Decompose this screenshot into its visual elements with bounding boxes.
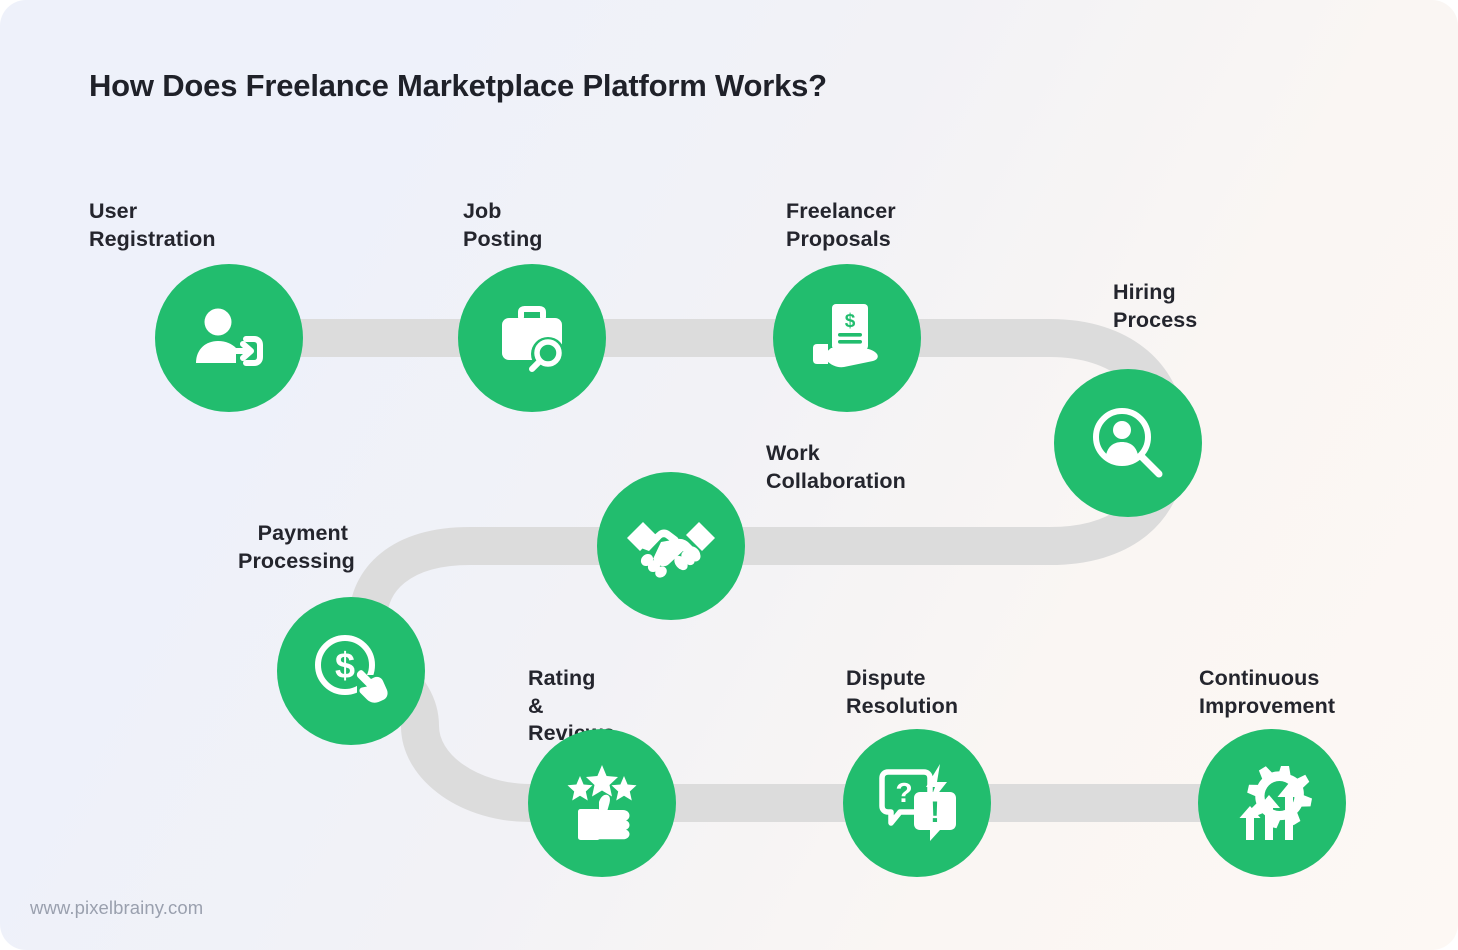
user-registration-icon [186, 295, 272, 381]
infographic-canvas: How Does Freelance Marketplace Platform … [0, 0, 1458, 950]
hiring-process-icon-circle[interactable] [1054, 369, 1202, 517]
flow-step-label: Dispute Resolution [846, 665, 958, 720]
svg-text:?: ? [895, 777, 912, 808]
gear-arrows-icon [1229, 762, 1315, 844]
hand-document-dollar-icon: $ [804, 295, 890, 381]
thumbs-up-stars-icon [559, 763, 645, 843]
svg-text:$: $ [845, 311, 856, 332]
footer-website-url: www.pixelbrainy.com [30, 897, 203, 919]
svg-text:$: $ [335, 645, 355, 686]
svg-text:!: ! [930, 796, 940, 829]
flow-step-label: Continuous Improvement [1199, 665, 1335, 720]
flow-step-label: Freelancer Proposals [786, 198, 896, 253]
user-registration-icon-circle[interactable] [155, 264, 303, 412]
flow-step-label: Payment Processing [238, 520, 348, 575]
flow-step-label: Hiring Process [1113, 279, 1197, 334]
flow-step-label: User Registration [89, 198, 216, 253]
speech-bubbles-dispute-icon: ? ! [874, 762, 960, 844]
flow-step-label: Work Collaboration [766, 440, 906, 495]
payment-processing-icon-circle[interactable]: $ [277, 597, 425, 745]
rating-reviews-icon-circle[interactable] [528, 729, 676, 877]
briefcase-search-icon [490, 296, 574, 380]
person-search-icon [1086, 401, 1170, 485]
job-posting-icon-circle[interactable] [458, 264, 606, 412]
freelancer-proposals-icon-circle[interactable]: $ [773, 264, 921, 412]
page-title: How Does Freelance Marketplace Platform … [89, 68, 827, 104]
flow-step-label: Job Posting [463, 198, 543, 253]
handshake-icon [625, 506, 717, 586]
continuous-improvement-icon-circle[interactable] [1198, 729, 1346, 877]
dollar-coin-click-icon: $ [309, 629, 393, 713]
work-collaboration-icon-circle[interactable] [597, 472, 745, 620]
dispute-resolution-icon-circle[interactable]: ? ! [843, 729, 991, 877]
